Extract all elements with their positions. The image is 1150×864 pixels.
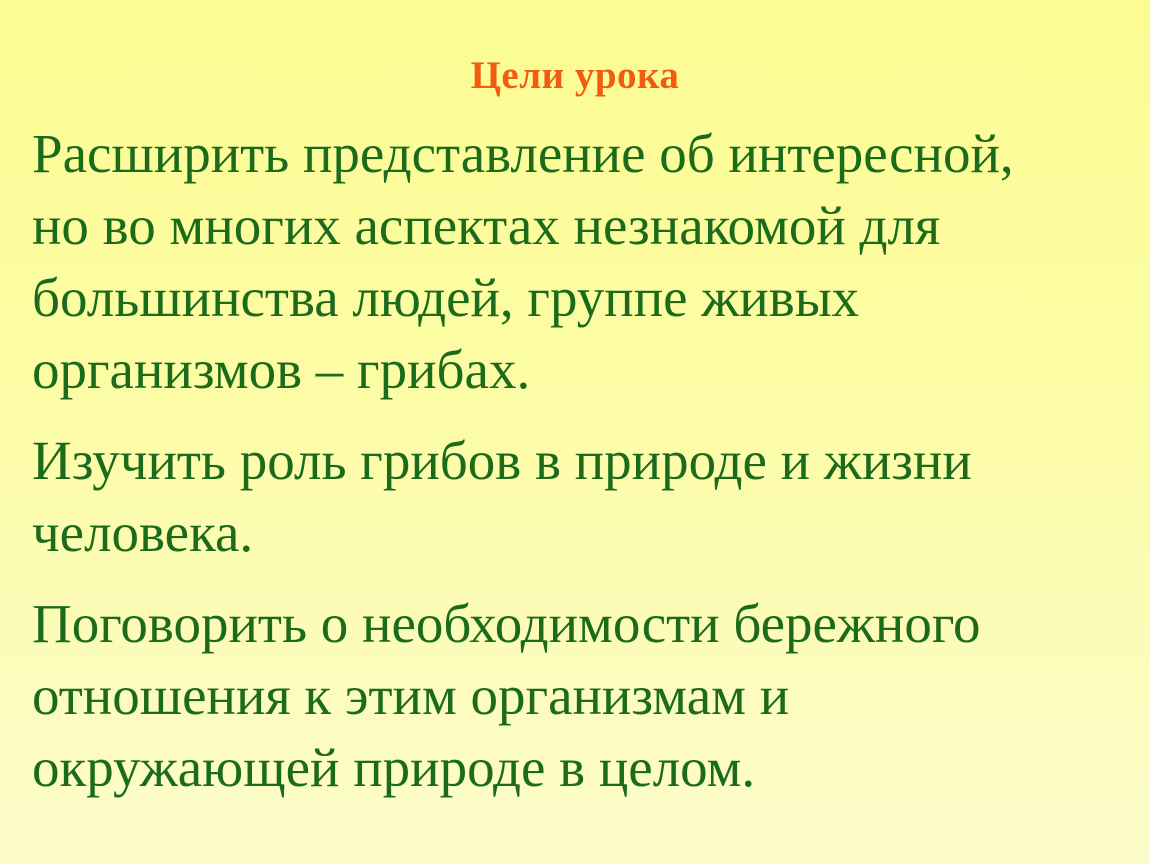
goal-line: окружающей природе в целом. [32, 732, 1046, 804]
goal-paragraph-3: Поговорить о необходимости бережного отн… [32, 588, 1046, 804]
goals-list: Расширить представление об интересной, н… [32, 118, 1046, 804]
goal-paragraph-2: Изучить роль грибов в природе и жизни че… [32, 425, 1046, 569]
goal-line: Расширить представление об интересной, [32, 118, 1046, 190]
goal-line: организмов – грибах. [32, 334, 1046, 406]
slide-canvas: Цели урока Расширить представление об ин… [0, 0, 1150, 864]
goal-line: отношения к этим организмам и [32, 660, 1046, 732]
goal-line: Поговорить о необходимости бережного [32, 588, 1046, 660]
goal-line: Изучить роль грибов в природе и жизни [32, 425, 1046, 497]
goal-line: но во многих аспектах незнакомой для [32, 190, 1046, 262]
goal-line: большинства людей, группе живых [32, 262, 1046, 334]
goal-line: человека. [32, 497, 1046, 569]
goal-paragraph-1: Расширить представление об интересной, н… [32, 118, 1046, 406]
page-title: Цели урока [0, 54, 1150, 99]
